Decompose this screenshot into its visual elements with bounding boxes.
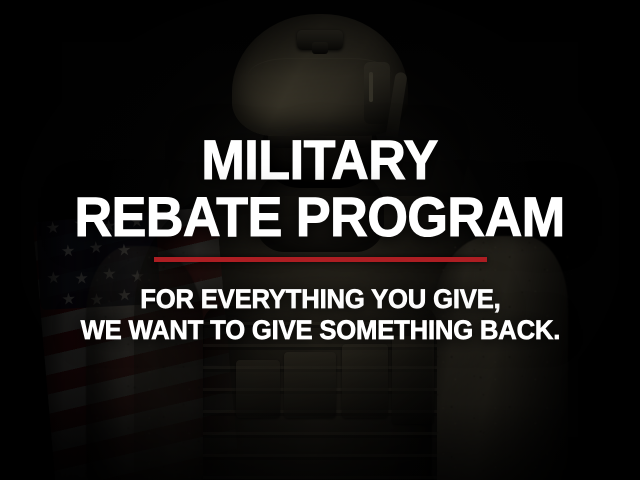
text-overlay: MILITARY REBATE PROGRAM FOR EVERYTHING Y… bbox=[0, 0, 640, 480]
subheadline: FOR EVERYTHING YOU GIVE, WE WANT TO GIVE… bbox=[68, 284, 573, 346]
subheadline-line-2: WE WANT TO GIVE SOMETHING BACK. bbox=[80, 315, 560, 346]
headline: MILITARY REBATE PROGRAM bbox=[56, 0, 583, 243]
subheadline-line-1: FOR EVERYTHING YOU GIVE, bbox=[80, 284, 560, 315]
headline-line-2: REBATE PROGRAM bbox=[75, 191, 565, 244]
headline-line-1: MILITARY bbox=[75, 134, 565, 187]
military-rebate-banner: MILITARY REBATE PROGRAM FOR EVERYTHING Y… bbox=[0, 0, 640, 480]
red-divider-rule bbox=[154, 257, 487, 262]
